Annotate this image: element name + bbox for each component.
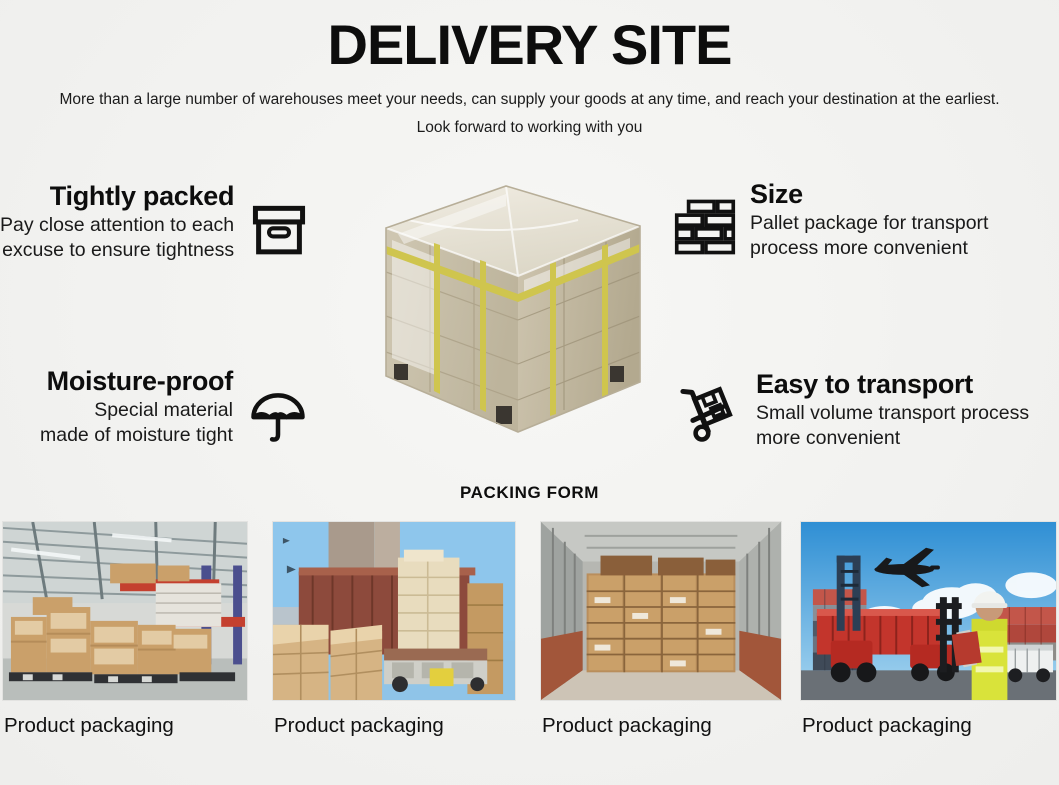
delivery-site-page: DELIVERY SITE More than a large number o… xyxy=(0,0,1059,785)
feature-size: Size Pallet package for transport proces… xyxy=(672,178,1059,261)
feature-title: Size xyxy=(750,178,803,211)
page-subtitle-line-2: Look forward to working with you xyxy=(0,118,1059,138)
archive-box-icon xyxy=(248,200,310,262)
feature-text: Moisture-proof Special material made of … xyxy=(40,365,233,448)
hand-truck-icon xyxy=(678,382,744,448)
feature-tightly-packed: Tightly packed Pay close attention to ea… xyxy=(0,180,360,263)
container-loading-photo[interactable] xyxy=(272,521,516,701)
feature-title: Tightly packed xyxy=(50,180,234,213)
feature-moisture-proof: Moisture-proof Special material made of … xyxy=(40,365,360,449)
feature-desc-line-2: made of moisture tight xyxy=(40,423,233,448)
card-caption: Product packaging xyxy=(272,713,516,739)
feature-text: Size Pallet package for transport proces… xyxy=(750,178,988,261)
feature-desc-line-2: excuse to ensure tightness xyxy=(2,238,234,263)
logistics-yard-photo[interactable] xyxy=(800,521,1057,701)
card-caption: Product packaging xyxy=(540,713,782,739)
feature-desc-line-1: Pay close attention to each xyxy=(0,213,234,238)
feature-easy-to-transport: Easy to transport Small volume transport… xyxy=(678,368,1059,451)
feature-text: Easy to transport Small volume transport… xyxy=(756,368,1029,451)
feature-title: Easy to transport xyxy=(756,368,973,401)
packing-card[interactable]: Product packaging xyxy=(2,521,248,739)
card-caption: Product packaging xyxy=(2,713,248,739)
feature-desc-line-1: Small volume transport process xyxy=(756,401,1029,426)
warehouse-photo[interactable] xyxy=(2,521,248,701)
brick-wall-icon xyxy=(672,194,738,260)
packing-card[interactable]: Product packaging xyxy=(800,521,1057,739)
feature-desc-line-2: more convenient xyxy=(756,426,900,451)
packing-form-heading: PACKING FORM xyxy=(0,483,1059,503)
feature-desc-line-1: Pallet package for transport xyxy=(750,211,988,236)
feature-text: Tightly packed Pay close attention to ea… xyxy=(0,180,234,263)
feature-title: Moisture-proof xyxy=(47,365,233,398)
feature-desc-line-2: process more convenient xyxy=(750,236,968,261)
umbrella-icon xyxy=(247,387,309,449)
wrapped-pallet-photo xyxy=(378,180,648,452)
packing-card[interactable]: Product packaging xyxy=(540,521,782,739)
page-title: DELIVERY SITE xyxy=(0,14,1059,76)
packing-card[interactable]: Product packaging xyxy=(272,521,516,739)
packing-gallery: Product packaging xyxy=(0,521,1059,771)
container-interior-photo[interactable] xyxy=(540,521,782,701)
feature-desc-line-1: Special material xyxy=(94,398,233,423)
card-caption: Product packaging xyxy=(800,713,1057,739)
page-subtitle-line-1: More than a large number of warehouses m… xyxy=(0,90,1059,110)
